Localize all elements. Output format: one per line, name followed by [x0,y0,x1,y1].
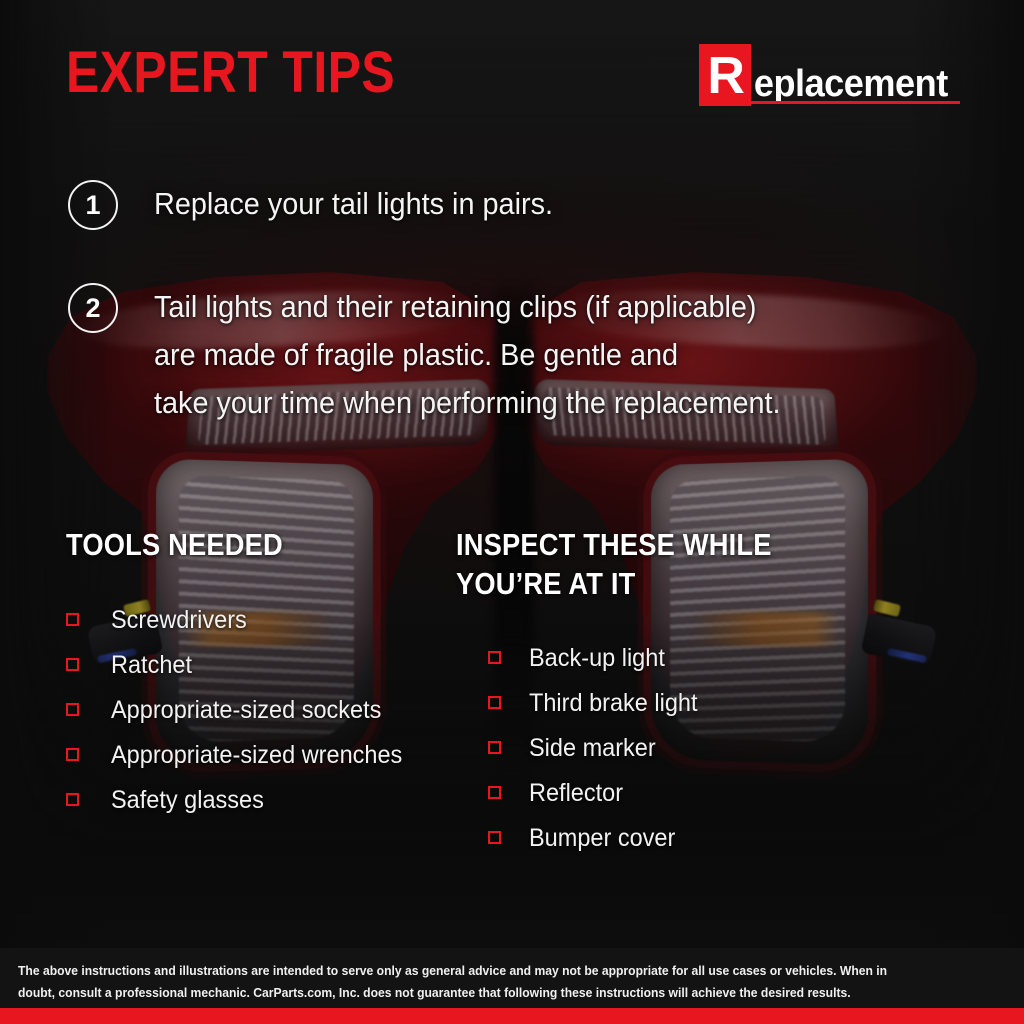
bottom-accent-bar [0,1008,1024,1024]
footer-disclaimer-text: The above instructions and illustrations… [18,960,923,1004]
list-item-label: Appropriate-sized wrenches [111,741,402,769]
checkbox-square-icon [66,793,79,806]
tip-number-badge: 2 [68,283,118,333]
list-item: Third brake light [456,680,856,725]
checkbox-square-icon [66,748,79,761]
inspect-these-list: Back-up light Third brake light Side mar… [456,635,856,860]
list-item-label: Reflector [529,779,623,807]
list-item-label: Third brake light [529,689,697,717]
checkbox-square-icon [488,696,501,709]
tip-item-2: 2 Tail lights and their retaining clips … [68,283,828,427]
list-item: Safety glasses [66,777,446,822]
list-item: Appropriate-sized wrenches [66,732,446,777]
tools-needed-heading: TOOLS NEEDED [66,525,400,564]
list-item-label: Screwdrivers [111,606,247,634]
checkbox-square-icon [488,741,501,754]
list-item-label: Ratchet [111,651,192,679]
checkbox-square-icon [488,786,501,799]
inspect-these-heading: INSPECT THESE WHILE YOU’RE AT IT [456,525,808,603]
tip-text: Replace your tail lights in pairs. [154,180,553,230]
list-item: Side marker [456,725,856,770]
list-item: Back-up light [456,635,856,680]
replacement-logo: R eplacement [699,44,960,106]
content-layer: EXPERT TIPS R eplacement 1 Replace your … [0,0,1024,1024]
list-item-label: Appropriate-sized sockets [111,696,381,724]
checkbox-square-icon [66,613,79,626]
list-item-label: Bumper cover [529,824,675,852]
checkbox-square-icon [66,703,79,716]
tip-number-badge: 1 [68,180,118,230]
tip-item-1: 1 Replace your tail lights in pairs. [68,180,583,230]
checkbox-square-icon [66,658,79,671]
logo-underline [739,101,960,104]
list-item: Appropriate-sized sockets [66,687,446,732]
list-item-label: Side marker [529,734,656,762]
list-item: Ratchet [66,642,446,687]
list-item-label: Back-up light [529,644,665,672]
expert-tips-infographic: EXPERT TIPS R eplacement 1 Replace your … [0,0,1024,1024]
list-item-label: Safety glasses [111,786,264,814]
footer-disclaimer-bar: The above instructions and illustrations… [0,948,1024,1008]
tools-needed-list: Screwdrivers Ratchet Appropriate-sized s… [66,597,446,822]
inspect-these-column: INSPECT THESE WHILE YOU’RE AT IT Back-up… [456,525,856,860]
checkbox-square-icon [488,651,501,664]
checkbox-square-icon [488,831,501,844]
tip-text: Tail lights and their retaining clips (i… [154,283,781,427]
logo-initial: R [699,44,751,106]
logo-wordmark: eplacement [751,62,950,106]
tools-needed-column: TOOLS NEEDED Screwdrivers Ratchet Approp… [66,525,446,822]
list-item: Screwdrivers [66,597,446,642]
list-item: Reflector [456,770,856,815]
list-item: Bumper cover [456,815,856,860]
page-title: EXPERT TIPS [66,44,395,102]
